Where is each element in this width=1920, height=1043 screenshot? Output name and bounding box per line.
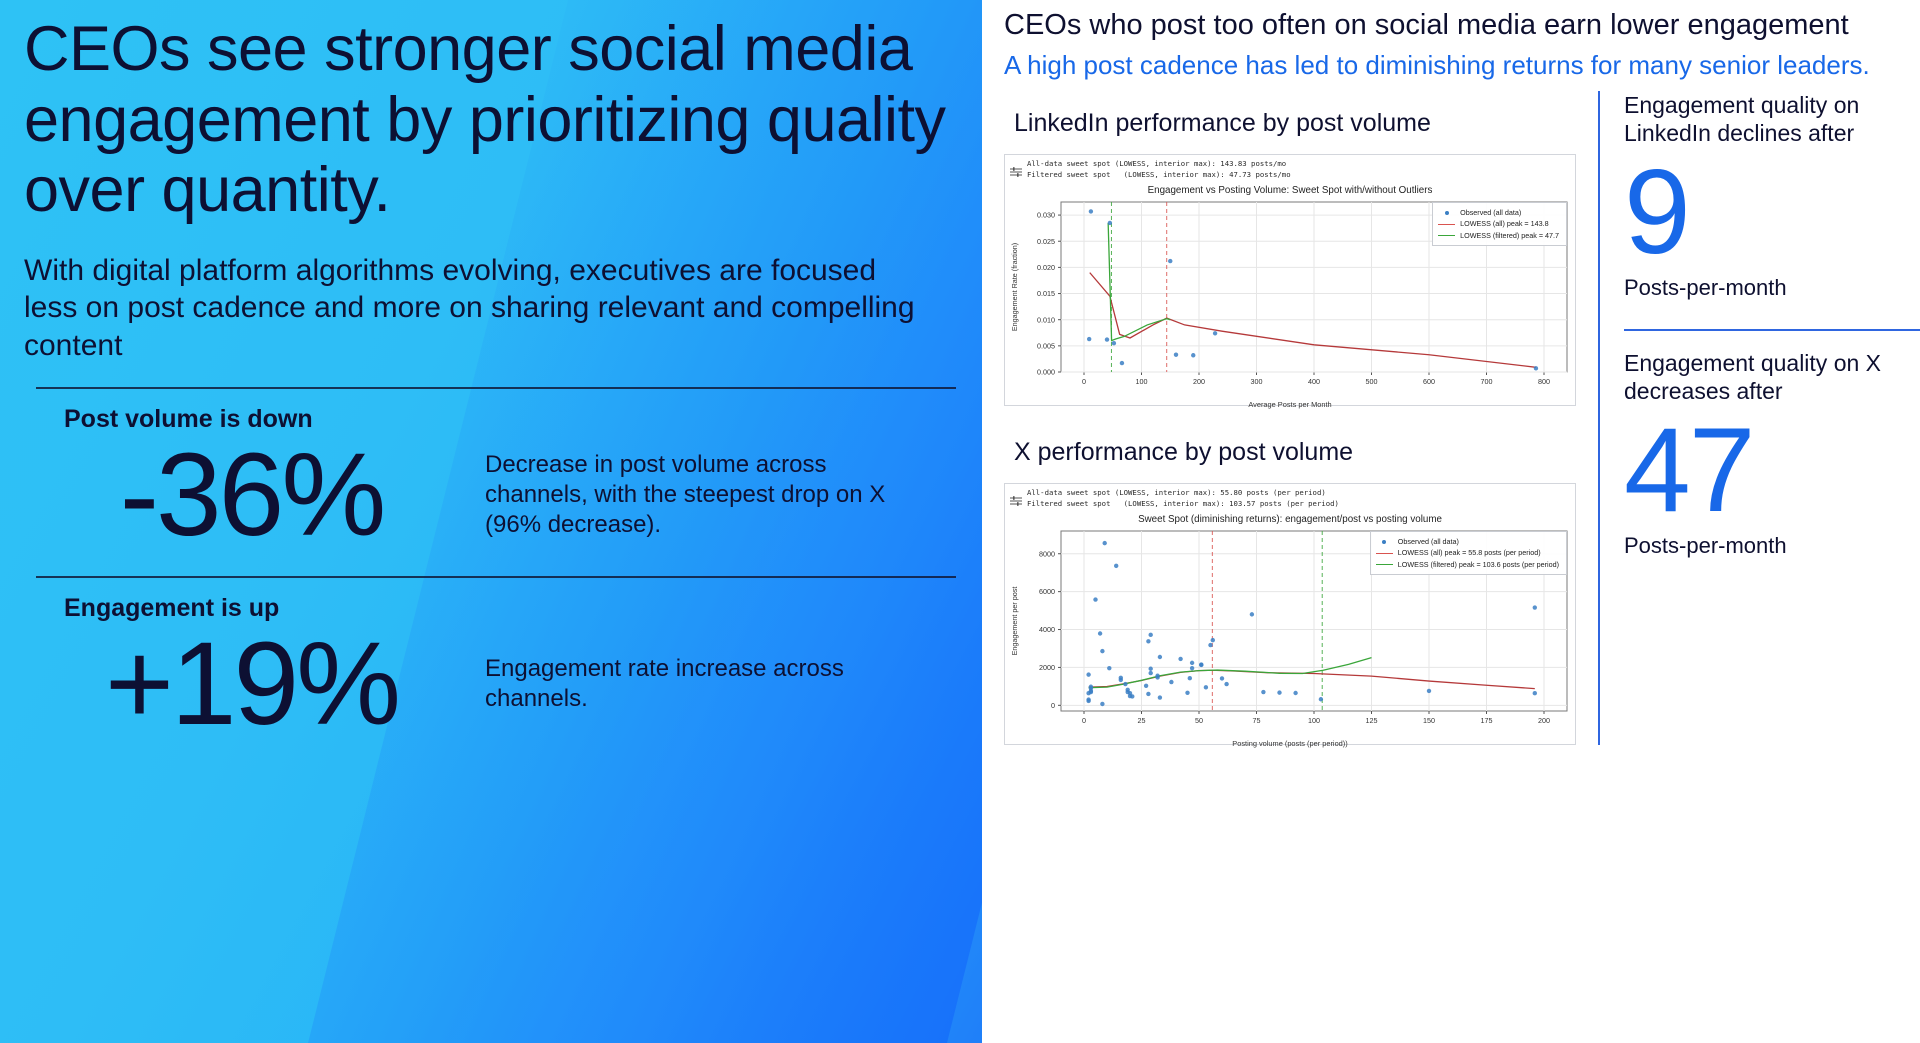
svg-text:100: 100 [1308,716,1320,725]
svg-text:25: 25 [1138,716,1146,725]
chart2-legend: Observed (all data) LOWESS (all) peak = … [1370,531,1567,574]
lowess-all-line-icon [1376,549,1393,558]
linkedin-chart-card: All-data sweet spot (LOWESS, interior ma… [1004,154,1576,406]
chart1-annotation-all: All-data sweet spot (LOWESS, interior ma… [1027,159,1291,170]
svg-text:100: 100 [1136,377,1148,386]
legend-item: Observed (all data) [1438,207,1559,218]
svg-text:0.020: 0.020 [1037,263,1055,272]
key-stat-caption: Engagement quality on X decreases after [1624,349,1920,405]
svg-text:600: 600 [1423,377,1435,386]
stat-value-post-volume: -36% [24,436,479,554]
key-stat-caption: Engagement quality on LinkedIn declines … [1624,91,1920,147]
svg-text:175: 175 [1481,716,1493,725]
analysis-subtitle: A high post cadence has led to diminishi… [1004,49,1884,82]
page-subhead: With digital platform algorithms evolvin… [24,252,924,365]
lowess-filtered-line-icon [1438,231,1455,240]
stat-description-post-volume: Decrease in post volume across channels,… [479,450,899,539]
observed-dot-icon [1376,537,1393,546]
svg-text:0: 0 [1082,377,1086,386]
key-stat-linkedin: Engagement quality on LinkedIn declines … [1624,91,1920,301]
x-chart-card: All-data sweet spot (LOWESS, interior ma… [1004,483,1576,745]
svg-text:500: 500 [1366,377,1378,386]
chart1-xlabel: Average Posts per Month [1005,400,1575,409]
analysis-title: CEOs who post too often on social media … [1004,8,1884,43]
lowess-filtered-line-icon [1376,560,1393,569]
svg-text:700: 700 [1481,377,1493,386]
chart2-annotation-filtered: Filtered sweet spot (LOWESS, interior ma… [1027,499,1339,510]
svg-text:200: 200 [1193,377,1205,386]
svg-text:2000: 2000 [1039,663,1055,672]
legend-item: LOWESS (filtered) peak = 103.6 posts (pe… [1376,559,1559,570]
key-stat-unit: Posts-per-month [1624,275,1920,301]
chart2-title: Sweet Spot (diminishing returns): engage… [1005,514,1575,525]
svg-text:200: 200 [1538,716,1550,725]
svg-text:0.015: 0.015 [1037,289,1055,298]
page-title: CEOs see stronger social media engagemen… [24,14,946,226]
lowess-all-line-icon [1438,220,1455,229]
stat-row-post-volume: -36% Decrease in post volume across chan… [24,436,946,554]
chart-heading-x: X performance by post volume [1014,438,1592,467]
infographic-page: CEOs see stronger social media engagemen… [0,0,1920,1043]
stat-description-engagement: Engagement rate increase across channels… [479,654,899,714]
svg-text:800: 800 [1538,377,1550,386]
svg-text:0: 0 [1082,716,1086,725]
legend-item: LOWESS (filtered) peak = 47.7 [1438,230,1559,241]
key-stat-unit: Posts-per-month [1624,533,1920,559]
divider [36,576,956,578]
chart1-annotation-filtered: Filtered sweet spot (LOWESS, interior ma… [1027,170,1291,181]
key-stat-value: 47 [1624,413,1920,527]
chart2-annotation-all: All-data sweet spot (LOWESS, interior ma… [1027,488,1339,499]
svg-text:0: 0 [1051,701,1055,710]
chart-settings-icon[interactable] [1009,488,1027,513]
chart-heading-linkedin: LinkedIn performance by post volume [1014,109,1592,138]
chart2-xlabel: Posting volume (posts (per period)) [1005,739,1575,748]
svg-text:0.025: 0.025 [1037,237,1055,246]
svg-text:6000: 6000 [1039,588,1055,597]
key-stats-column: Engagement quality on LinkedIn declines … [1598,91,1920,745]
stat-value-engagement: +19% [24,625,479,743]
divider [36,387,956,389]
legend-item: LOWESS (all) peak = 55.8 posts (per peri… [1376,547,1559,558]
svg-text:400: 400 [1308,377,1320,386]
legend-item: Observed (all data) [1376,536,1559,547]
divider [1624,329,1920,331]
svg-text:50: 50 [1195,716,1203,725]
chart1-title: Engagement vs Posting Volume: Sweet Spot… [1005,185,1575,196]
left-summary-panel: CEOs see stronger social media engagemen… [0,0,982,1043]
chart-settings-icon[interactable] [1009,159,1027,184]
svg-text:0.000: 0.000 [1037,368,1055,377]
svg-text:0.010: 0.010 [1037,316,1055,325]
legend-item: LOWESS (all) peak = 143.8 [1438,218,1559,229]
svg-text:8000: 8000 [1039,550,1055,559]
svg-text:0.005: 0.005 [1037,342,1055,351]
svg-text:0.030: 0.030 [1037,211,1055,220]
right-analysis-panel: CEOs who post too often on social media … [982,0,1920,1043]
key-stat-value: 9 [1624,155,1920,269]
charts-column: LinkedIn performance by post volume [1004,109,1592,745]
svg-text:150: 150 [1423,716,1435,725]
svg-text:Engagement Rate (fraction): Engagement Rate (fraction) [1010,243,1019,331]
key-stat-x: Engagement quality on X decreases after … [1624,349,1920,559]
stat-row-engagement: +19% Engagement rate increase across cha… [24,625,946,743]
svg-text:75: 75 [1253,716,1261,725]
svg-text:Engagement per post: Engagement per post [1010,587,1019,656]
chart1-legend: Observed (all data) LOWESS (all) peak = … [1432,202,1567,245]
svg-text:4000: 4000 [1039,625,1055,634]
observed-dot-icon [1438,208,1455,217]
svg-text:300: 300 [1251,377,1263,386]
svg-text:125: 125 [1366,716,1378,725]
